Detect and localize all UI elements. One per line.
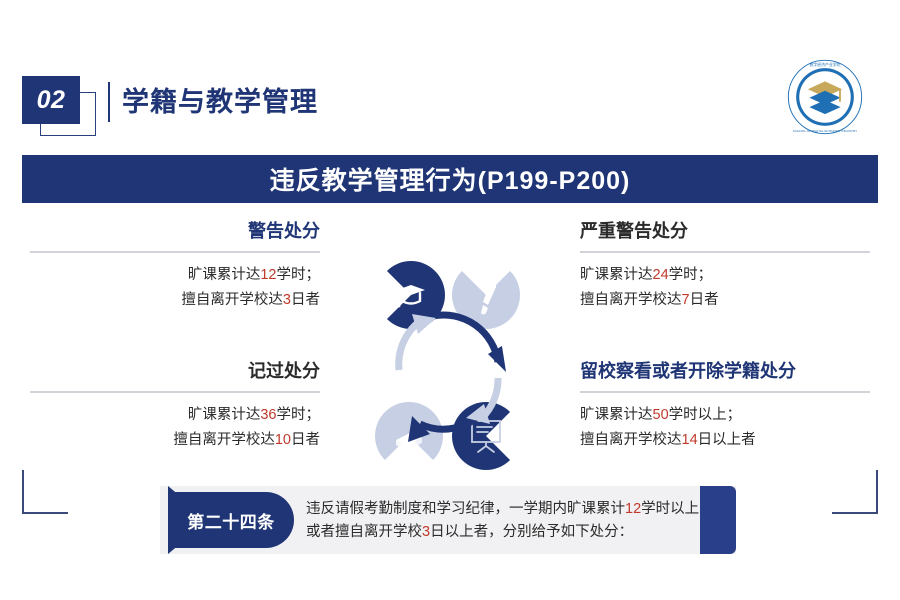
article-text-line: 或者擅自离开学校3日以上者，分别给予如下处分： <box>306 521 706 544</box>
quadrant-body: 旷课累计达24学时； 擅自离开学校达7日者 <box>580 263 870 313</box>
quadrant-divider <box>580 251 870 253</box>
quadrant-line: 擅自离开学校达7日者 <box>580 288 870 313</box>
svg-text:数字经济产业学院: 数字经济产业学院 <box>809 62 840 67</box>
quadrant-warning: 警告处分 旷课累计达12学时； 擅自离开学校达3日者 <box>30 218 320 313</box>
line-prefix: 擅自离开学校达 <box>173 432 275 448</box>
line-prefix: 擅自离开学校达 <box>580 292 682 308</box>
line-prefix: 擅自离开学校达 <box>580 432 682 448</box>
bracket-vertical <box>22 470 24 514</box>
quadrant-line: 擅自离开学校达14日以上者 <box>580 428 870 453</box>
line-suffix: 日者 <box>291 432 320 448</box>
article-text-line: 违反请假考勤制度和学习纪律，一学期内旷课累计12学时以上 <box>306 498 706 521</box>
quadrant-body: 旷课累计达36学时； 擅自离开学校达10日者 <box>30 403 320 453</box>
line-number: 36 <box>260 407 276 423</box>
article-right-block <box>700 486 736 554</box>
bracket-horizontal <box>22 512 68 514</box>
line-suffix: 学时以上 <box>641 501 699 517</box>
line-prefix: 旷课累计达 <box>188 407 261 423</box>
line-prefix: 或者擅自离开学校 <box>306 524 422 540</box>
line-number: 3 <box>283 292 291 308</box>
line-suffix: 学时； <box>277 267 321 283</box>
section-number-badge: 02 <box>22 76 100 138</box>
article-tag-label: 第二十四条 <box>168 492 294 548</box>
quadrant-line: 旷课累计达50学时以上； <box>580 403 870 428</box>
line-number: 10 <box>275 432 291 448</box>
quadrant-divider <box>580 391 870 393</box>
svg-text:SCHOOL OF DIGITAL ECONOMY INDU: SCHOOL OF DIGITAL ECONOMY INDUSTRY <box>793 129 857 133</box>
quadrant-serious-warning: 严重警告处分 旷课累计达24学时； 擅自离开学校达7日者 <box>580 218 870 313</box>
line-suffix: 日者 <box>291 292 320 308</box>
section-number-text: 02 <box>22 76 80 124</box>
corner-bracket-left <box>22 470 68 514</box>
line-suffix: 日者 <box>690 292 719 308</box>
slide-header: 02 学籍与教学管理 数字经济产业学院 SCHOOL OF DIGITAL EC… <box>0 0 900 150</box>
quadrant-heading: 记过处分 <box>30 358 320 384</box>
slide-root: 02 学籍与教学管理 数字经济产业学院 SCHOOL OF DIGITAL EC… <box>0 0 900 600</box>
article-callout: 第二十四条 违反请假考勤制度和学习纪律，一学期内旷课累计12学时以上 或者擅自离… <box>160 486 736 554</box>
section-banner-title: 违反教学管理行为(P199-P200) <box>270 161 631 197</box>
section-banner: 违反教学管理行为(P199-P200) <box>22 155 878 203</box>
line-prefix: 旷课累计达 <box>580 267 653 283</box>
line-number: 14 <box>682 432 698 448</box>
line-suffix: 学时； <box>277 407 321 423</box>
corner-bracket-right <box>832 470 878 514</box>
line-number: 7 <box>682 292 690 308</box>
page-title: 学籍与教学管理 <box>122 82 318 122</box>
quadrant-divider <box>30 391 320 393</box>
line-number: 12 <box>260 267 276 283</box>
line-prefix: 擅自离开学校达 <box>181 292 283 308</box>
line-suffix: 学时以上； <box>669 407 742 423</box>
header-divider-rule <box>108 82 110 122</box>
quadrant-divider <box>30 251 320 253</box>
line-suffix: 日以上者 <box>698 432 756 448</box>
line-number: 12 <box>625 501 641 517</box>
quadrant-heading: 严重警告处分 <box>580 218 870 244</box>
quadrant-body: 旷课累计达12学时； 擅自离开学校达3日者 <box>30 263 320 313</box>
line-prefix: 违反请假考勤制度和学习纪律，一学期内旷课累计 <box>306 501 625 517</box>
line-number: 24 <box>653 267 669 283</box>
quadrant-line: 旷课累计达12学时； <box>30 263 320 288</box>
line-number: 50 <box>653 407 669 423</box>
quadrant-line: 旷课累计达24学时； <box>580 263 870 288</box>
quadrant-probation-expulsion: 留校察看或者开除学籍处分 旷课累计达50学时以上； 擅自离开学校达14日以上者 <box>580 358 870 453</box>
quadrant-demerit: 记过处分 旷课累计达36学时； 擅自离开学校达10日者 <box>30 358 320 453</box>
line-suffix: 学时； <box>669 267 713 283</box>
cycle-diagram <box>340 258 555 473</box>
bracket-horizontal <box>832 512 878 514</box>
line-prefix: 旷课累计达 <box>188 267 261 283</box>
quadrant-heading: 警告处分 <box>30 218 320 244</box>
quadrant-line: 旷课累计达36学时； <box>30 403 320 428</box>
quadrant-body: 旷课累计达50学时以上； 擅自离开学校达14日以上者 <box>580 403 870 453</box>
quadrant-line: 擅自离开学校达10日者 <box>30 428 320 453</box>
line-number: 3 <box>422 524 430 540</box>
quadrant-line: 擅自离开学校达3日者 <box>30 288 320 313</box>
line-suffix: 日以上者，分别给予如下处分： <box>430 524 633 540</box>
quadrant-heading: 留校察看或者开除学籍处分 <box>580 358 870 384</box>
school-emblem-logo: 数字经济产业学院 SCHOOL OF DIGITAL ECONOMY INDUS… <box>786 58 864 136</box>
bracket-vertical <box>876 470 878 514</box>
article-text: 违反请假考勤制度和学习纪律，一学期内旷课累计12学时以上 或者擅自离开学校3日以… <box>306 498 706 544</box>
line-prefix: 旷课累计达 <box>580 407 653 423</box>
